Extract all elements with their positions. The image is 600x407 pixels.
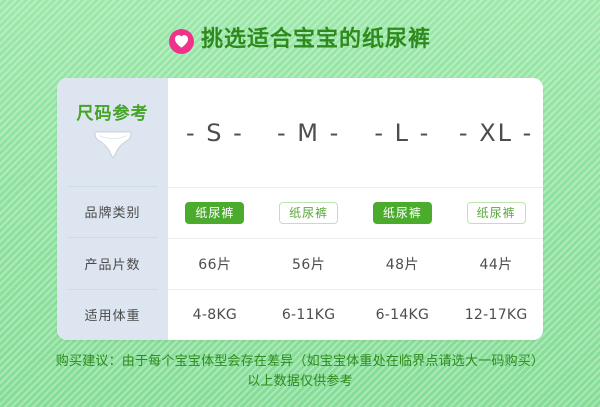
weight-cell-l: 6-14KG [356,307,450,323]
weight-value-xl: 12-17KG [465,307,528,323]
size-label-s: - S - [186,119,244,147]
size-cell-xl: - XL - [449,119,543,147]
row-label-suitable-weight: 适用体重 [57,290,168,340]
count-cell-m: 56片 [262,254,356,274]
weight-cell-s: 4-8KG [168,307,262,323]
count-cell-xl: 44片 [449,254,543,274]
weight-value-m: 6-11KG [282,307,336,323]
diaper-icon [92,130,134,164]
count-value-m: 56片 [292,254,325,274]
size-cell-s: - S - [168,119,262,147]
table-row-piece-count: 66片 56片 48片 44片 [168,238,543,289]
brand-badge-s[interactable]: 纸尿裤 [185,202,244,224]
table-row-suitable-weight: 4-8KG 6-11KG 6-14KG 12-17KG [168,289,543,340]
weight-cell-xl: 12-17KG [449,307,543,323]
count-value-l: 48片 [386,254,419,274]
footer-line-2: 以上数据仅供参考 [0,372,600,392]
size-cell-m: - M - [262,119,356,147]
count-value-s: 66片 [198,254,231,274]
brand-cell-m: 纸尿裤 [262,202,356,224]
row-label-brand-category: 品牌类别 [57,187,168,237]
footer-line-1: 购买建议：由于每个宝宝体型会存在差异（如宝宝体重处在临界点请选大一码购买） [0,352,600,372]
page-header: 挑选适合宝宝的纸尿裤 [0,20,600,60]
weight-value-l: 6-14KG [376,307,430,323]
size-label-xl: - XL - [459,119,533,147]
brand-cell-xl: 纸尿裤 [449,202,543,224]
size-label-m: - M - [277,119,340,147]
weight-cell-m: 6-11KG [262,307,356,323]
brand-badge-l[interactable]: 纸尿裤 [373,202,432,224]
size-header-row: - S - - M - - L - - XL - [168,78,543,187]
size-cell-l: - L - [356,119,450,147]
size-reference-label: 尺码参考 [77,99,149,124]
size-label-l: - L - [374,119,430,147]
brand-cell-s: 纸尿裤 [168,202,262,224]
footer-note: 购买建议：由于每个宝宝体型会存在差异（如宝宝体重处在临界点请选大一码购买） 以上… [0,352,600,392]
weight-value-s: 4-8KG [193,307,237,323]
count-cell-s: 66片 [168,254,262,274]
size-reference-header: 尺码参考 [57,78,168,186]
data-column: - S - - M - - L - - XL - 纸尿裤 纸尿裤 纸尿裤 [168,78,543,340]
table-row-brand-category: 纸尿裤 纸尿裤 纸尿裤 纸尿裤 [168,187,543,238]
size-chart-card: 尺码参考 品牌类别 产品片数 适用体重 - S - - M - [57,78,543,340]
count-value-xl: 44片 [479,254,512,274]
row-label-piece-count: 产品片数 [57,238,168,288]
page-title: 挑选适合宝宝的纸尿裤 [201,29,431,51]
brand-badge-m[interactable]: 纸尿裤 [279,202,338,224]
count-cell-l: 48片 [356,254,450,274]
heart-icon [169,29,194,54]
brand-cell-l: 纸尿裤 [356,202,450,224]
label-column: 尺码参考 品牌类别 产品片数 适用体重 [57,78,168,340]
brand-badge-xl[interactable]: 纸尿裤 [467,202,526,224]
